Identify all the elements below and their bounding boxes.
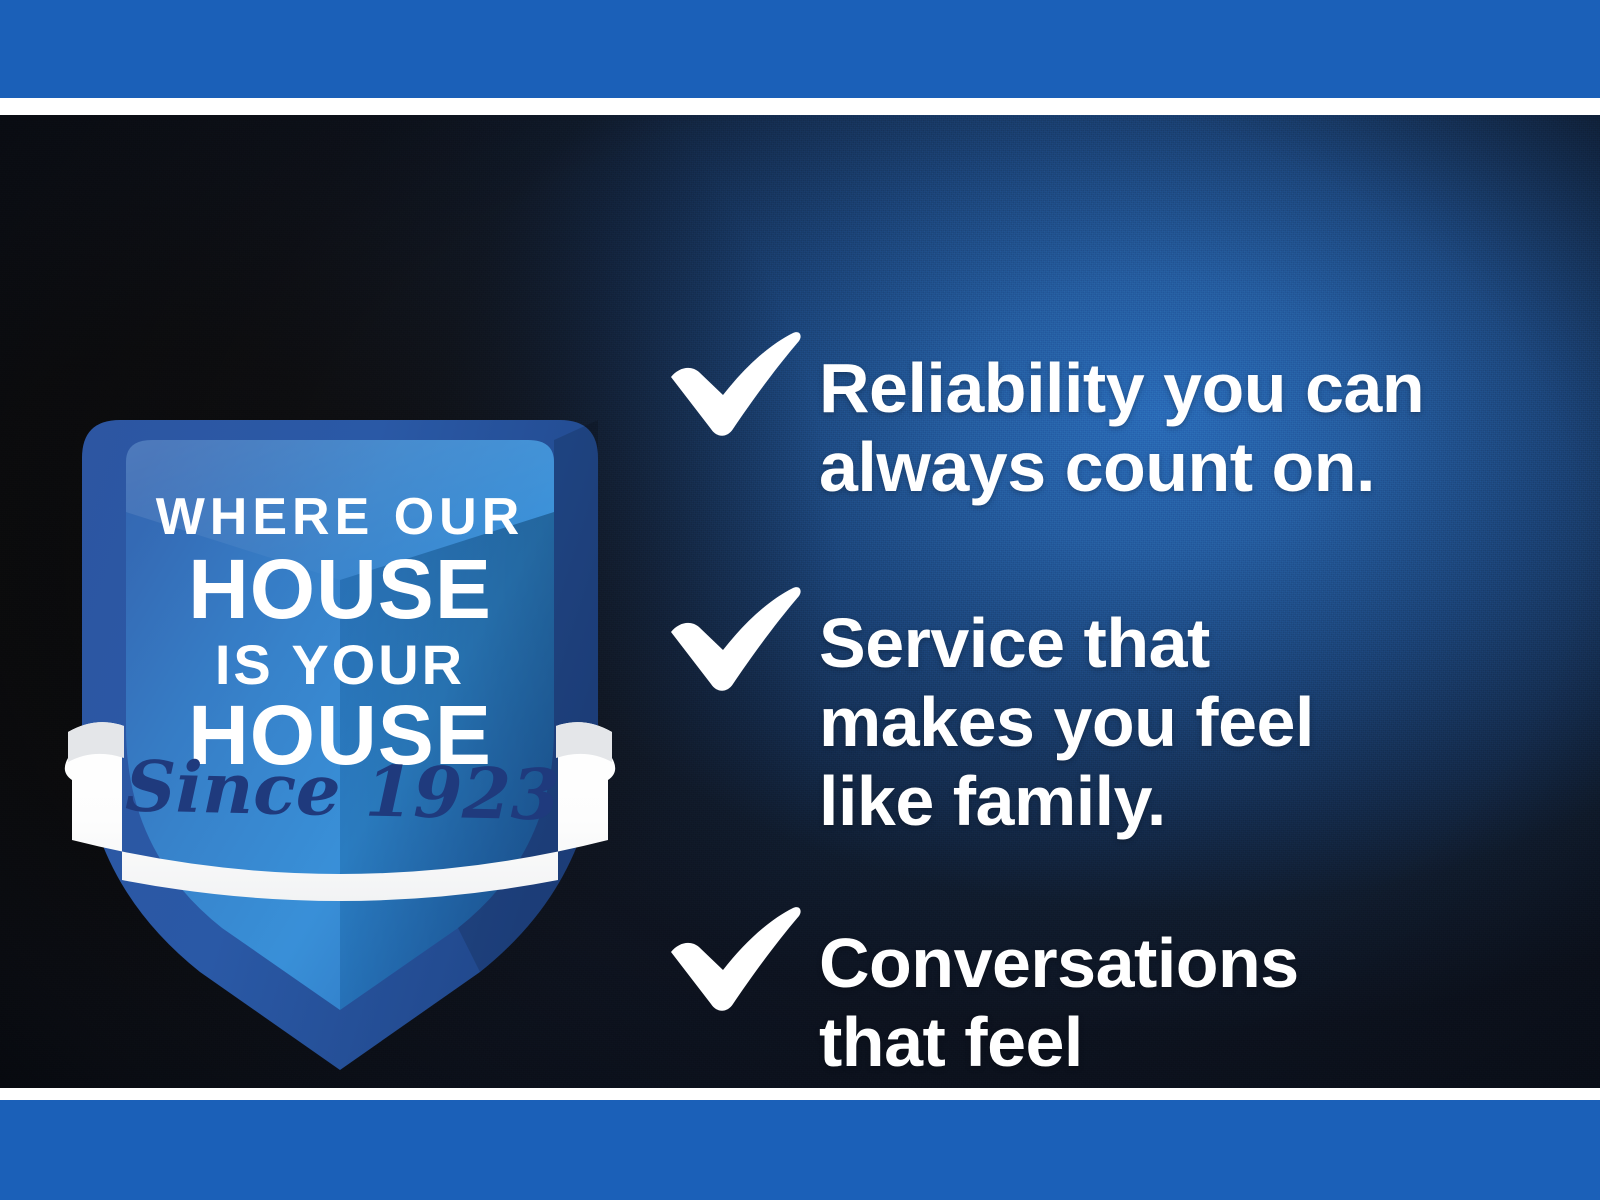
bottom-brand-bar (0, 1100, 1600, 1200)
list-item: Reliability you can always count on. (665, 325, 1424, 507)
badge-line-1: WHERE OUR (156, 488, 525, 546)
shield-badge: WHERE OUR HOUSE IS YOUR HOUSE Since 1923 (60, 280, 620, 1070)
bottom-white-divider (0, 1088, 1600, 1100)
check-icon (665, 580, 805, 700)
list-item-text: Conversations that feel like home. (819, 900, 1299, 1088)
top-white-divider (0, 98, 1600, 115)
top-brand-bar (0, 0, 1600, 98)
list-item: Service that makes you feel like family. (665, 580, 1314, 841)
ribbon-text: Since 1923 (124, 744, 560, 836)
check-icon (665, 900, 805, 1020)
promo-graphic: WHERE OUR HOUSE IS YOUR HOUSE Since 1923 (0, 0, 1600, 1200)
badge-line-3: IS YOUR (215, 633, 465, 696)
list-item: Conversations that feel like home. (665, 900, 1299, 1088)
check-icon (665, 325, 805, 445)
badge-line-2: HOUSE (188, 542, 492, 636)
list-item-text: Service that makes you feel like family. (819, 580, 1314, 841)
main-canvas: WHERE OUR HOUSE IS YOUR HOUSE Since 1923 (0, 115, 1600, 1088)
list-item-text: Reliability you can always count on. (819, 325, 1424, 507)
